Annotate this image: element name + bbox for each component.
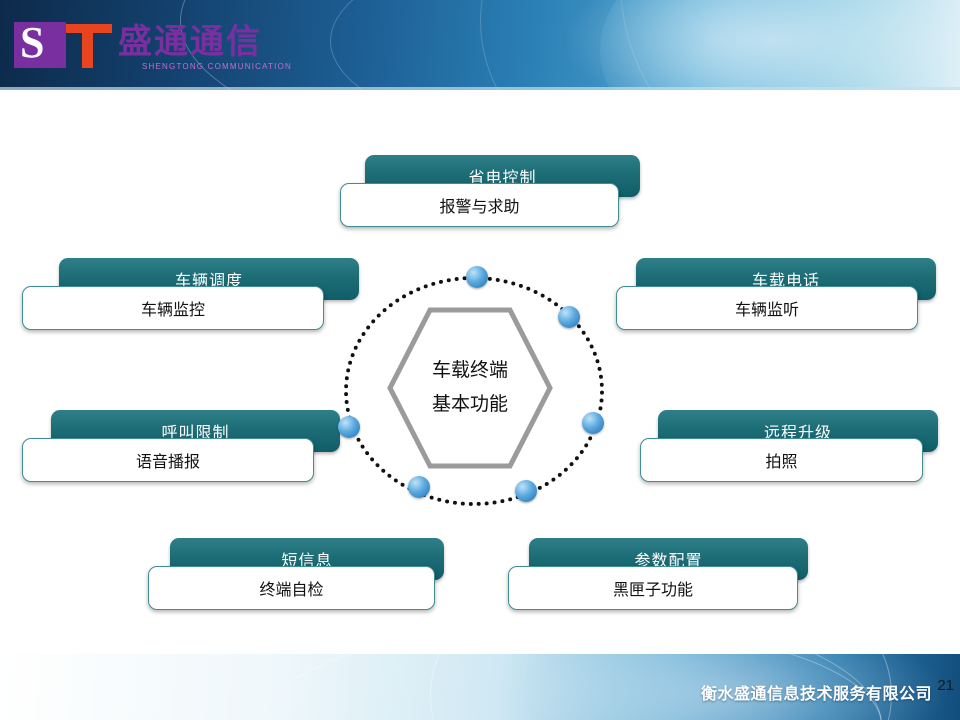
- ring-node-top: [466, 266, 488, 288]
- card-text-call-restriction: 语音播报: [136, 448, 200, 472]
- card-text-power-saving-control: 报警与求助: [439, 193, 519, 217]
- card-body-vehicle-dispatch: 车辆监控: [22, 286, 324, 330]
- ring-node-bottom-right: [582, 412, 604, 434]
- ring-node-top-right: [558, 306, 580, 328]
- card-remote-upgrade[interactable]: 远程升级 拍照: [640, 410, 938, 492]
- slide-canvas: S 盛通通信 SHENGTONG COMMUNICATION 省电控制 报警与求…: [0, 0, 960, 720]
- page-number: 21: [937, 677, 954, 694]
- card-call-restriction[interactable]: 呼叫限制 语音播报: [22, 410, 340, 492]
- card-body-vehicle-phone: 车辆监听: [616, 286, 918, 330]
- card-text-parameter-config: 黑匣子功能: [613, 576, 693, 600]
- logo-s-letter: S: [20, 20, 44, 66]
- logo-company-name-en: SHENGTONG COMMUNICATION: [142, 62, 292, 71]
- center-diagram: 车载终端 基本功能: [330, 268, 610, 508]
- logo-t-stem: [82, 24, 93, 68]
- card-body-power-saving-control: 报警与求助: [340, 183, 619, 227]
- hexagon-label-line1: 车载终端: [386, 354, 554, 388]
- logo-company-name-cn: 盛通通信: [118, 22, 262, 62]
- footer-company-name: 衡水盛通信息技术服务有限公司: [701, 680, 932, 704]
- card-body-remote-upgrade: 拍照: [640, 438, 923, 482]
- card-body-parameter-config: 黑匣子功能: [508, 566, 798, 610]
- card-short-message[interactable]: 短信息 终端自检: [148, 538, 444, 620]
- ring-node-left: [338, 416, 360, 438]
- hexagon-label-line2: 基本功能: [386, 388, 554, 422]
- card-vehicle-phone[interactable]: 车载电话 车辆监听: [616, 258, 938, 340]
- header-banner: S 盛通通信 SHENGTONG COMMUNICATION: [0, 0, 960, 90]
- hexagon-shape: 车载终端 基本功能: [386, 306, 554, 470]
- card-text-short-message: 终端自检: [259, 576, 323, 600]
- card-body-short-message: 终端自检: [148, 566, 435, 610]
- card-text-vehicle-phone: 车辆监听: [735, 296, 799, 320]
- banner-glow: [560, 0, 960, 90]
- ring-node-bottom: [515, 480, 537, 502]
- card-vehicle-dispatch[interactable]: 车辆调度 车辆监控: [22, 258, 342, 340]
- hexagon-label: 车载终端 基本功能: [386, 354, 554, 422]
- company-logo: S 盛通通信 SHENGTONG COMMUNICATION: [14, 14, 314, 76]
- ring-node-bottom-left: [408, 476, 430, 498]
- card-parameter-config[interactable]: 参数配置 黑匣子功能: [508, 538, 808, 620]
- card-text-remote-upgrade: 拍照: [765, 448, 797, 472]
- card-power-saving-control[interactable]: 省电控制 报警与求助: [340, 155, 640, 235]
- banner-bottom-rule: [0, 87, 960, 90]
- card-body-call-restriction: 语音播报: [22, 438, 314, 482]
- card-text-vehicle-dispatch: 车辆监控: [141, 296, 205, 320]
